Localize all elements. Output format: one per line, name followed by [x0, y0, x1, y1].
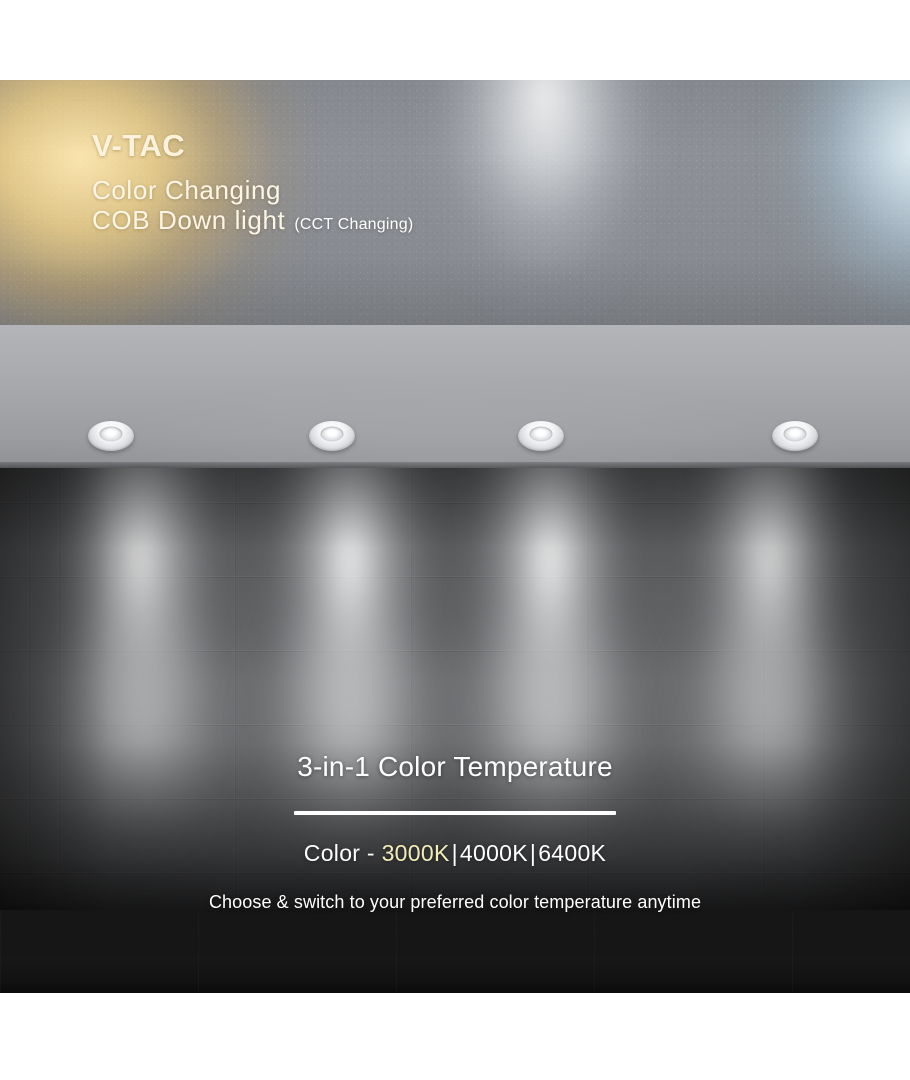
hero-banner: V-TAC Color Changing COB Down light (CCT… [0, 80, 910, 325]
downlight-hotspot-icon [327, 430, 338, 437]
downlight-fixture-4 [772, 421, 818, 451]
color-label: Color - [304, 840, 382, 866]
temperature-4000k: 4000K [460, 840, 528, 866]
floor-tile-lines [0, 910, 910, 993]
banner-copy: V-TAC Color Changing COB Down light (CCT… [92, 130, 413, 236]
copy-divider [294, 811, 616, 815]
downlight-fixture-2 [309, 421, 355, 451]
temperature-separator-1: | [450, 840, 460, 866]
downlight-fixture-3 [518, 421, 564, 451]
floor [0, 910, 910, 993]
product-marketing-image: V-TAC Color Changing COB Down light (CCT… [0, 0, 910, 1080]
tagline-line-1: Color Changing [92, 175, 413, 205]
tagline-line-2-row: COB Down light (CCT Changing) [92, 205, 413, 235]
downlight-hotspot-icon [536, 430, 547, 437]
temperature-3000k: 3000K [382, 840, 450, 866]
color-temperature-line: Color - 3000K|4000K|6400K [0, 840, 910, 868]
downlight-fixture-1 [88, 421, 134, 451]
cct-note: (CCT Changing) [294, 216, 413, 235]
room-photo: 3-in-1 Color Temperature Color - 3000K|4… [0, 325, 910, 993]
feature-copy-block: 3-in-1 Color Temperature Color - 3000K|4… [0, 750, 910, 914]
downlight-hotspot-icon [106, 430, 117, 437]
feature-subnote: Choose & switch to your preferred color … [0, 892, 910, 914]
tagline-line-2: COB Down light [92, 205, 285, 235]
downlight-hotspot-icon [790, 430, 801, 437]
temperature-6400k: 6400K [538, 840, 606, 866]
feature-headline: 3-in-1 Color Temperature [0, 750, 910, 784]
brand-logo: V-TAC [92, 130, 413, 161]
temperature-separator-2: | [528, 840, 538, 866]
